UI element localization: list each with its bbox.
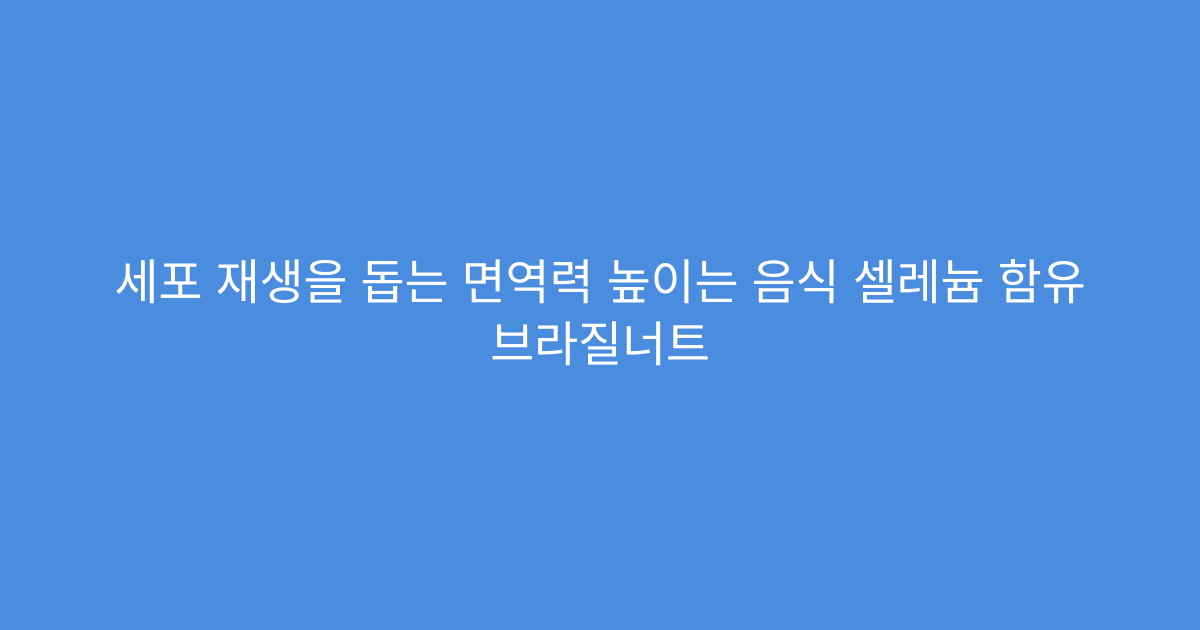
share-card: 세포 재생을 돕는 면역력 높이는 음식 셀레늄 함유 브라질너트 — [0, 0, 1200, 630]
title-block: 세포 재생을 돕는 면역력 높이는 음식 셀레늄 함유 브라질너트 — [72, 253, 1128, 378]
page-title: 세포 재생을 돕는 면역력 높이는 음식 셀레늄 함유 브라질너트 — [72, 253, 1128, 378]
